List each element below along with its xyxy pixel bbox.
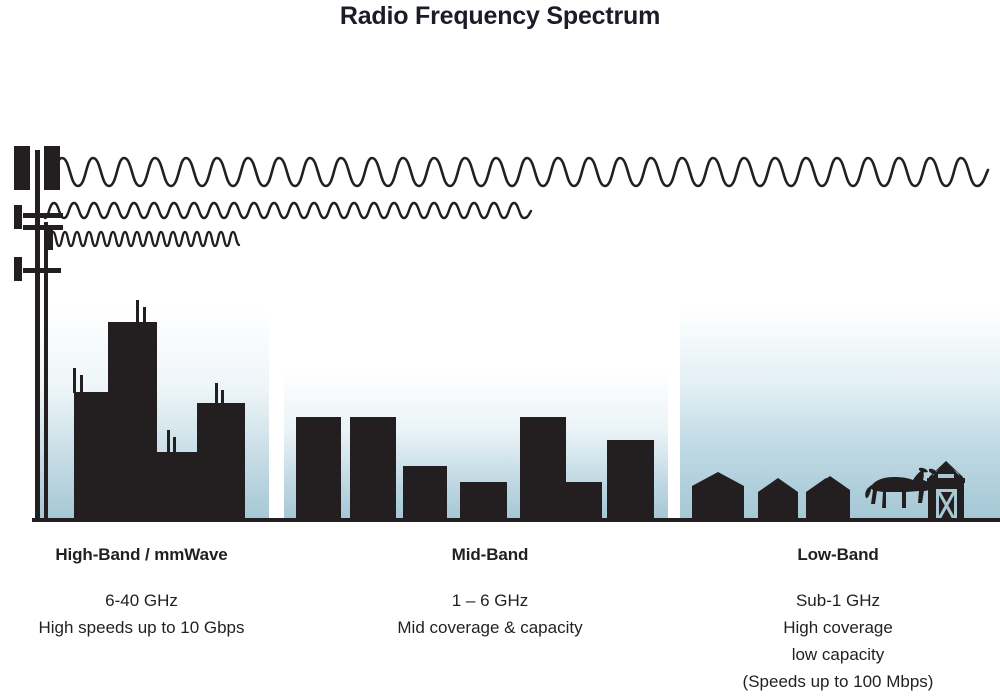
spectrum-illustration <box>0 0 1000 540</box>
building-spire <box>136 300 139 324</box>
tower-antenna-panel <box>14 205 22 229</box>
tower-antenna-panel <box>46 228 53 250</box>
building-spire <box>80 375 83 393</box>
building-spire <box>173 437 176 452</box>
ground-line <box>32 518 1000 522</box>
tower-crossarm <box>23 268 61 273</box>
building-high-band <box>157 452 197 519</box>
caption-line-speed-low-band: (Speeds up to 100 Mbps) <box>676 668 1000 695</box>
building-high-band <box>197 403 245 519</box>
caption-line-frequency-low-band: Sub-1 GHz <box>676 587 1000 614</box>
building-spire <box>143 307 146 324</box>
building-high-band <box>108 322 157 519</box>
high-frequency-wave <box>48 232 239 246</box>
caption-line-frequency-high-band: 6-40 GHz <box>0 587 283 614</box>
barn-window <box>938 474 954 478</box>
caption-heading-mid-band: Mid-Band <box>330 545 650 565</box>
building-mid-band <box>403 466 447 519</box>
building-mid-band <box>296 417 341 519</box>
caption-mid-band: Mid-Band 1 – 6 GHz Mid coverage & capaci… <box>330 545 650 641</box>
caption-line-coverage-mid-band: Mid coverage & capacity <box>330 614 650 641</box>
house-low-band <box>692 486 744 519</box>
infographic-root: Radio Frequency Spectrum <box>0 0 1000 700</box>
tower-mast <box>35 150 40 519</box>
radio-waves <box>45 158 988 246</box>
building-spire <box>73 368 76 393</box>
building-mid-band <box>460 482 507 519</box>
mid-frequency-wave <box>45 203 531 218</box>
building-high-band <box>74 392 108 519</box>
caption-line-speed-high-band: High speeds up to 10 Gbps <box>0 614 283 641</box>
caption-line-coverage-low-band: High coverage <box>676 614 1000 641</box>
low-frequency-wave <box>47 158 988 186</box>
band-captions: High-Band / mmWave 6-40 GHz High speeds … <box>0 545 1000 700</box>
building-spire <box>167 430 170 452</box>
tower-crossarm <box>23 225 63 230</box>
building-spire <box>221 390 224 404</box>
tower-antenna-panel <box>44 146 60 190</box>
caption-line-frequency-mid-band: 1 – 6 GHz <box>330 587 650 614</box>
tower-antenna-panel <box>14 257 22 281</box>
tower-crossarm <box>23 213 63 218</box>
building-mid-band <box>350 417 396 519</box>
caption-high-band: High-Band / mmWave 6-40 GHz High speeds … <box>0 545 283 641</box>
caption-line-capacity-low-band: low capacity <box>676 641 1000 668</box>
caption-low-band: Low-Band Sub-1 GHz High coverage low cap… <box>676 545 1000 695</box>
building-spire <box>215 383 218 404</box>
building-mid-band <box>566 482 602 519</box>
caption-heading-high-band: High-Band / mmWave <box>0 545 283 565</box>
tower-antenna-panel <box>14 146 30 190</box>
building-mid-band <box>520 417 566 519</box>
barn-eave <box>927 478 965 483</box>
tower-mast-secondary <box>44 222 48 519</box>
caption-heading-low-band: Low-Band <box>676 545 1000 565</box>
building-mid-band <box>607 440 654 519</box>
